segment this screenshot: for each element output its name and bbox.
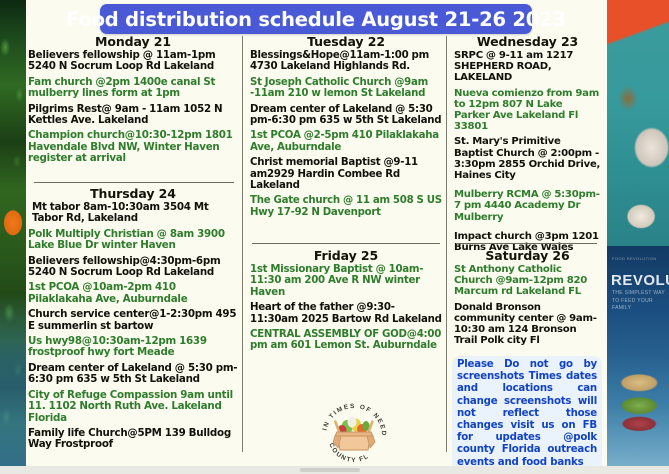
photo-greens-orange (0, 0, 26, 474)
photo-cover-tinytop: FOOD REVOLUTION (612, 256, 657, 261)
entry-friday-1: Heart of the father @9:30-11:30am 2025 B… (250, 302, 442, 325)
bottom-bar-nub (300, 468, 360, 472)
entry-tuesday-2: Dream center of Lakeland @ 5:30 pm-6:30 … (250, 104, 442, 127)
water-overlay (0, 294, 26, 474)
day-cell-tuesday: Tuesday 22 Blessings&Hope@11am-1:00 pm 4… (250, 34, 442, 222)
page-title: Food distribution schedule August 21-26 … (66, 8, 566, 31)
row-divider-middle (252, 243, 440, 244)
entry-tuesday-1: St Joseph Catholic Church @9am -11am 210… (250, 77, 442, 100)
bottom-bar (0, 466, 669, 474)
entry-thursday-2: Believers fellowship@4:30pm-6pm 5240 N S… (28, 256, 238, 279)
day-header-thursday: Thursday 24 (28, 186, 238, 201)
photo-food-revolution-cover: FOOD REVOLUTION REVOLU THE SIMPLEST WAY … (607, 246, 669, 474)
entry-friday-2: CENTRAL ASSEMBLY OF GOD@4:00 pm am 601 L… (250, 329, 442, 352)
title-banner: Food distribution schedule August 21-26 … (100, 4, 532, 34)
schedule-card: Food distribution schedule August 21-26 … (26, 0, 607, 466)
day-header-wednesday: Wednesday 23 (454, 34, 601, 49)
entry-thursday-4: Church service center@1-2:30pm 495 E sum… (28, 309, 238, 332)
day-header-saturday: Saturday 26 (454, 248, 601, 263)
entry-thursday-7: City of Refuge Compassion 9am until 11. … (28, 390, 238, 424)
day-cell-wednesday: Wednesday 23 SRPC @ 9-11 am 1217 SHEPHER… (454, 34, 601, 257)
day-cell-friday: Friday 25 1st Missionary Baptist @ 10am-… (250, 248, 442, 356)
entry-monday-0: Believers fellowship @ 11am-1pm 5240 N S… (28, 50, 238, 73)
food-box-logo: IN TIMES OF NEED POLK COUNTY FL (316, 396, 392, 464)
entry-thursday-5: Us hwy98@10:30am-12pm 1639 frostproof hw… (28, 336, 238, 359)
entry-friday-0: 1st Missionary Baptist @ 10am-11:30 am 2… (250, 264, 442, 298)
row-divider-left (34, 182, 234, 183)
entry-thursday-1: Polk Multiply Christian @ 8am 3900 Lake … (28, 229, 238, 252)
column-divider-1 (242, 36, 243, 452)
day-cell-saturday: Saturday 26 St Anthony Catholic Church @… (454, 248, 601, 350)
entry-tuesday-5: The Gate church @ 11 am 508 S US Hwy 17-… (250, 195, 442, 218)
day-cell-thursday: Thursday 24 Mt tabor 8am-10:30am 3504 Mt… (28, 186, 238, 455)
disclaimer-notice: Please Do not go by screenshots Times da… (452, 356, 602, 474)
column-left: Monday 21 Believers fellowship @ 11am-1p… (28, 34, 242, 466)
entry-saturday-1: Donald Bronson community center @ 9am-10… (454, 302, 601, 347)
column-divider-2 (446, 36, 447, 452)
entry-thursday-8: Family life Church@5PM 139 Bulldog Way F… (28, 428, 238, 451)
photo-cover-headline: REVOLU (611, 272, 669, 289)
entry-thursday-0: Mt tabor 8am-10:30am 3504 Mt Tabor Rd, L… (28, 202, 238, 225)
entry-monday-3: Champion church@10:30-12pm 1801 Havendal… (28, 130, 238, 164)
entry-wednesday-2: St. Mary's Primitive Baptist Church @ 2:… (454, 136, 601, 181)
entry-tuesday-0: Blessings&Hope@11am-1:00 pm 4730 Lakelan… (250, 50, 442, 73)
entry-wednesday-3: Mulberry RCMA @ 5:30pm-7 pm 4440 Academy… (454, 189, 601, 223)
entry-wednesday-0: SRPC @ 9-11 am 1217 SHEPHERD ROAD, LAKEL… (454, 50, 601, 84)
day-header-monday: Monday 21 (28, 34, 238, 49)
entry-tuesday-4: Christ memorial Baptist @9-11 am2929 Har… (250, 157, 442, 191)
entry-saturday-0: St Anthony Catholic Church @9am-12pm 820… (454, 264, 601, 298)
entry-monday-2: Pilgrims Rest@ 9am - 11am 1052 N Kettles… (28, 104, 238, 127)
day-header-tuesday: Tuesday 22 (250, 34, 442, 49)
row-divider-right (456, 243, 597, 244)
day-cell-monday: Monday 21 Believers fellowship @ 11am-1p… (28, 34, 238, 169)
entry-wednesday-1: Nueva comienzo from 9am to 12pm 807 N La… (454, 88, 601, 133)
entry-tuesday-3: 1st PCOA @2-5pm 410 Pilaklakaha Ave, Aub… (250, 130, 442, 153)
photo-teal-food (607, 0, 669, 246)
photo-cover-subhead: THE SIMPLEST WAY TO FEED YOUR FAMILY (612, 290, 669, 313)
entry-thursday-3: 1st PCOA @10am-2pm 410 Pilaklakaha Ave, … (28, 282, 238, 305)
flyer-page: FOOD REVOLUTION REVOLU THE SIMPLEST WAY … (0, 0, 669, 474)
day-header-friday: Friday 25 (250, 248, 442, 263)
disclaimer-text: Please Do not go by screenshots Times da… (457, 359, 597, 469)
entry-thursday-6: Dream center of Lakeland @ 5:30 pm-6:30 … (28, 363, 238, 386)
entry-monday-1: Fam church @2pm 1400e canal St mulberry … (28, 77, 238, 100)
